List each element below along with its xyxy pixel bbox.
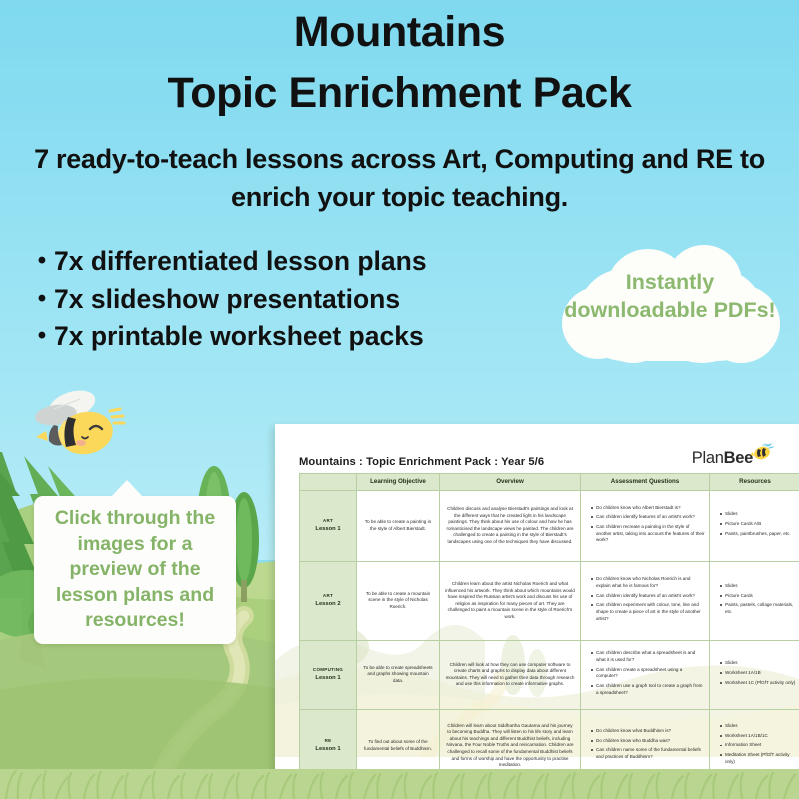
resource-item: Picture Cards bbox=[720, 593, 796, 600]
speech-tail-icon bbox=[110, 480, 144, 498]
resource-item: Slides bbox=[720, 511, 796, 518]
cell-resources: Slides Picture Cards A/B Paints, paintbr… bbox=[710, 490, 799, 561]
resource-item: Paints, pastels, collage materials, etc. bbox=[720, 602, 796, 615]
cell-resources: Slides Worksheet 1A/1B Worksheet 1C (PfG… bbox=[710, 640, 799, 709]
column-header-resources: Resources bbox=[710, 474, 799, 491]
lesson-number: Lesson 2 bbox=[315, 601, 340, 607]
cell-overview: Children discuss and analyse Bierstadt's… bbox=[440, 490, 581, 561]
preview-hint-label: Click through the images for a preview o… bbox=[42, 506, 228, 634]
cell-assessment-questions: Can children describe what a spreadsheet… bbox=[581, 640, 710, 709]
cloud-badge-label: Instantly downloadable PDFs! bbox=[564, 269, 776, 324]
planbee-logo: PlanBee bbox=[692, 449, 775, 468]
lesson-subject: ART bbox=[301, 593, 355, 600]
page-title: Mountains Topic Enrichment Pack bbox=[0, 8, 799, 117]
table-row: ART Lesson 2 To be able to create a moun… bbox=[300, 561, 799, 640]
list-item-label: 7x slideshow presentations bbox=[54, 281, 550, 319]
list-item-label: 7x differentiated lesson plans bbox=[54, 243, 550, 281]
column-header-overview: Overview bbox=[440, 474, 581, 491]
lesson-overview-document[interactable]: Mountains : Topic Enrichment Pack : Year… bbox=[275, 424, 799, 779]
cloud-badge: Instantly downloadable PDFs! bbox=[552, 243, 788, 371]
planbee-bee-logo-icon bbox=[751, 442, 775, 462]
assessment-question: Can children recreate a painting in the … bbox=[591, 524, 705, 544]
column-header-assessment-questions: Assessment Questions bbox=[581, 474, 710, 491]
lesson-number: Lesson 1 bbox=[315, 746, 340, 752]
cell-assessment-questions: Do children know who Nicholas Roerich is… bbox=[581, 561, 710, 640]
bullet-marker-icon: • bbox=[30, 243, 54, 279]
table-header-row: Learning Objective Overview Assessment Q… bbox=[300, 474, 799, 491]
bee-icon bbox=[24, 385, 134, 467]
cell-assessment-questions: Do children know who Albert Bierstadt is… bbox=[581, 490, 710, 561]
title-line-2: Topic Enrichment Pack bbox=[0, 69, 799, 117]
list-item-label: 7x printable worksheet packs bbox=[54, 318, 550, 356]
poster-canvas: Mountains Topic Enrichment Pack 7 ready-… bbox=[0, 0, 799, 799]
list-item: • 7x differentiated lesson plans bbox=[30, 243, 550, 281]
cell-overview: Children learn about the artist Nicholas… bbox=[440, 561, 581, 640]
brand-light-text: Plan bbox=[692, 449, 724, 467]
cell-learning-objective: To be able to create a painting in the s… bbox=[357, 490, 440, 561]
preview-hint-card: Click through the images for a preview o… bbox=[34, 496, 236, 644]
assessment-question: Do children know who Buddha was? bbox=[591, 738, 705, 745]
lesson-subject: COMPUTING bbox=[301, 667, 355, 674]
document-header: Mountains : Topic Enrichment Pack : Year… bbox=[299, 440, 775, 468]
lesson-number: Lesson 1 bbox=[315, 526, 340, 532]
resource-item: Slides bbox=[720, 583, 796, 590]
assessment-question: Can children use a graph tool to create … bbox=[591, 683, 705, 696]
resource-item: Slides bbox=[720, 723, 796, 730]
bullet-marker-icon: • bbox=[30, 281, 54, 317]
assessment-question: Can children describe what a spreadsheet… bbox=[591, 650, 705, 663]
lesson-number: Lesson 1 bbox=[315, 675, 340, 681]
cell-lesson: COMPUTING Lesson 1 bbox=[300, 640, 357, 709]
table-row: COMPUTING Lesson 1 To be able to create … bbox=[300, 640, 799, 709]
list-item: • 7x printable worksheet packs bbox=[30, 318, 550, 356]
cell-learning-objective: To be able to create spreadsheets and gr… bbox=[357, 640, 440, 709]
bullet-marker-icon: • bbox=[30, 318, 54, 354]
resource-item: Worksheet 1A/1B/1C bbox=[720, 733, 796, 740]
assessment-question: Can children create a spreadsheet using … bbox=[591, 667, 705, 680]
document-title: Mountains : Topic Enrichment Pack : Year… bbox=[299, 456, 544, 468]
list-item: • 7x slideshow presentations bbox=[30, 281, 550, 319]
resource-item: Information Sheet bbox=[720, 742, 796, 749]
assessment-question: Do children know who Albert Bierstadt is… bbox=[591, 505, 705, 512]
document-content: Mountains : Topic Enrichment Pack : Year… bbox=[299, 440, 775, 760]
resource-item: Picture Cards A/B bbox=[720, 521, 796, 528]
resource-item: Worksheet 1C (PfGfT activity only) bbox=[720, 680, 796, 687]
column-header-lesson bbox=[300, 474, 357, 491]
brand-bold-text: Bee bbox=[724, 449, 753, 467]
assessment-question: Can children experiment with colour, ton… bbox=[591, 602, 705, 622]
lesson-table: Learning Objective Overview Assessment Q… bbox=[299, 473, 799, 779]
brand-text: PlanBee bbox=[692, 449, 753, 467]
column-header-learning-objective: Learning Objective bbox=[357, 474, 440, 491]
page-subtitle: 7 ready-to-teach lessons across Art, Com… bbox=[14, 140, 785, 217]
cell-lesson: ART Lesson 2 bbox=[300, 561, 357, 640]
resource-item: Worksheet 1A/1B bbox=[720, 670, 796, 677]
resource-item: Paints, paintbrushes, paper, etc. bbox=[720, 531, 796, 538]
assessment-question: Can children identify features of an art… bbox=[591, 593, 705, 600]
table-row: ART Lesson 1 To be able to create a pain… bbox=[300, 490, 799, 561]
lesson-subject: ART bbox=[301, 518, 355, 525]
cell-resources: Slides Picture Cards Paints, pastels, co… bbox=[710, 561, 799, 640]
lesson-subject: RE bbox=[301, 738, 355, 745]
assessment-question: Can children identify features of an art… bbox=[591, 514, 705, 521]
assessment-question: Do children know who Nicholas Roerich is… bbox=[591, 576, 705, 589]
feature-list: • 7x differentiated lesson plans • 7x sl… bbox=[30, 243, 550, 356]
resource-item: Slides bbox=[720, 660, 796, 667]
assessment-question: Do children know what Buddhism is? bbox=[591, 728, 705, 735]
cell-learning-objective: To be able to create a mountain scene in… bbox=[357, 561, 440, 640]
title-line-1: Mountains bbox=[0, 8, 799, 56]
grass-tufts-icon bbox=[0, 755, 799, 799]
cell-overview: Children will look at how they can use c… bbox=[440, 640, 581, 709]
cell-lesson: ART Lesson 1 bbox=[300, 490, 357, 561]
